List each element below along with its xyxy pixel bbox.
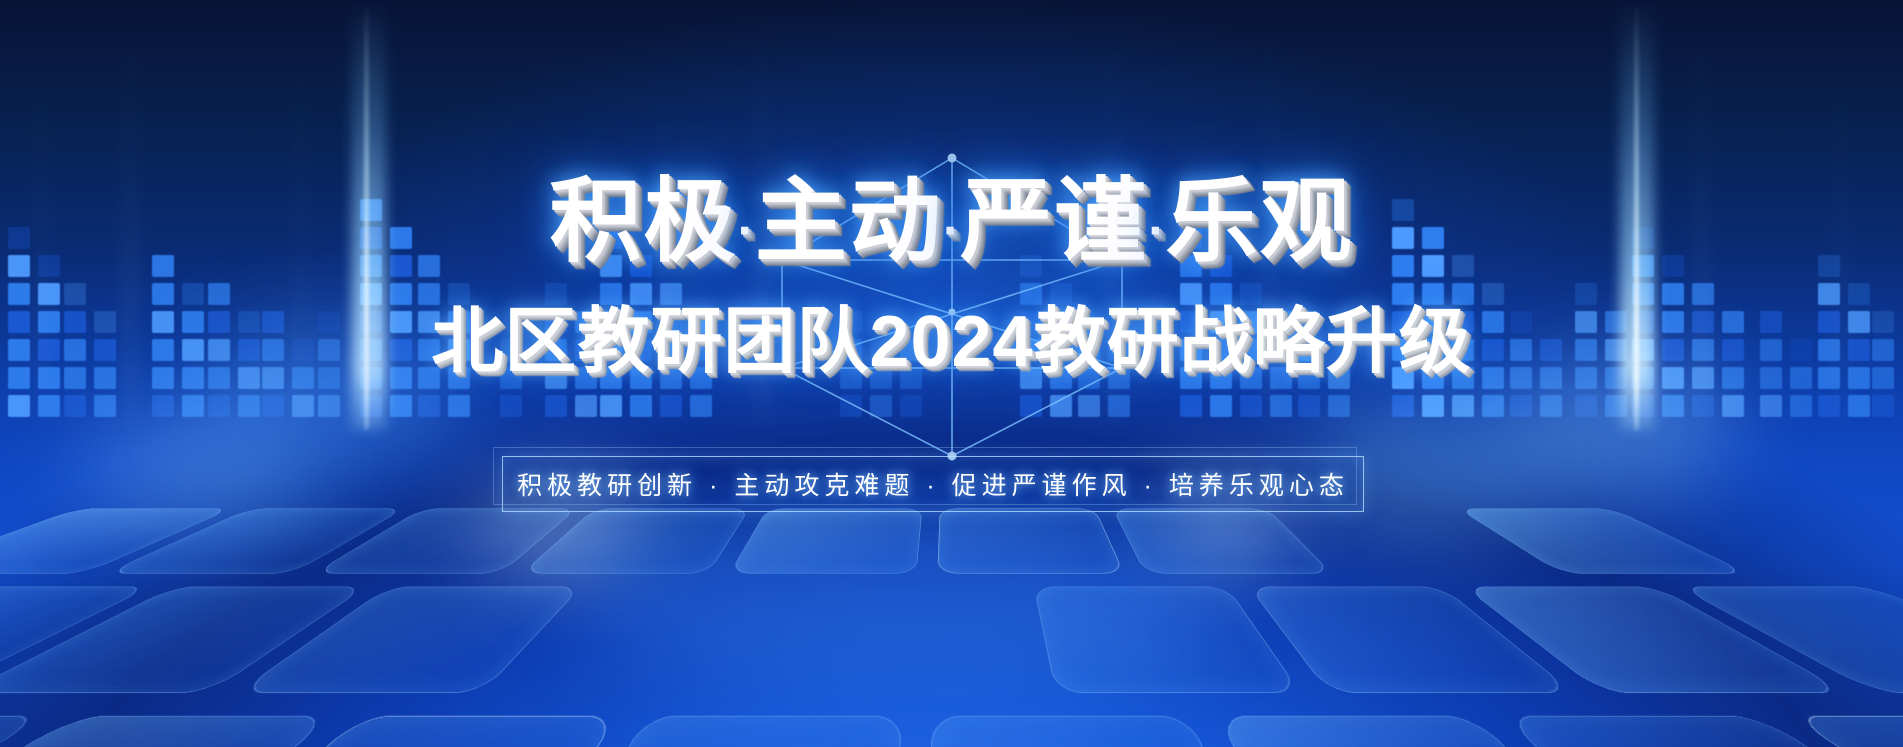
main-title-word-4: 乐观 bbox=[1166, 171, 1354, 273]
main-title: 积极·主动·严谨·乐观 bbox=[0, 176, 1903, 268]
subtitle: 北区教研团队2024教研战略升级 bbox=[0, 306, 1903, 378]
main-title-word-2: 主动 bbox=[755, 171, 943, 273]
tagline-bar: 积极教研创新 · 主动攻克难题 · 促进严谨作风 · 培养乐观心态 bbox=[502, 456, 1364, 512]
tech-banner: 积极·主动·严谨·乐观 北区教研团队2024教研战略升级 积极教研创新 · 主动… bbox=[0, 0, 1903, 747]
title-separator-2: · bbox=[943, 202, 960, 260]
main-title-word-3: 严谨 bbox=[960, 171, 1148, 273]
tagline-text: 积极教研创新 · 主动攻克难题 · 促进严谨作风 · 培养乐观心态 bbox=[517, 466, 1349, 502]
title-separator-3: · bbox=[1148, 202, 1165, 260]
main-title-word-1: 积极 bbox=[549, 171, 737, 273]
title-separator-1: · bbox=[737, 202, 754, 260]
